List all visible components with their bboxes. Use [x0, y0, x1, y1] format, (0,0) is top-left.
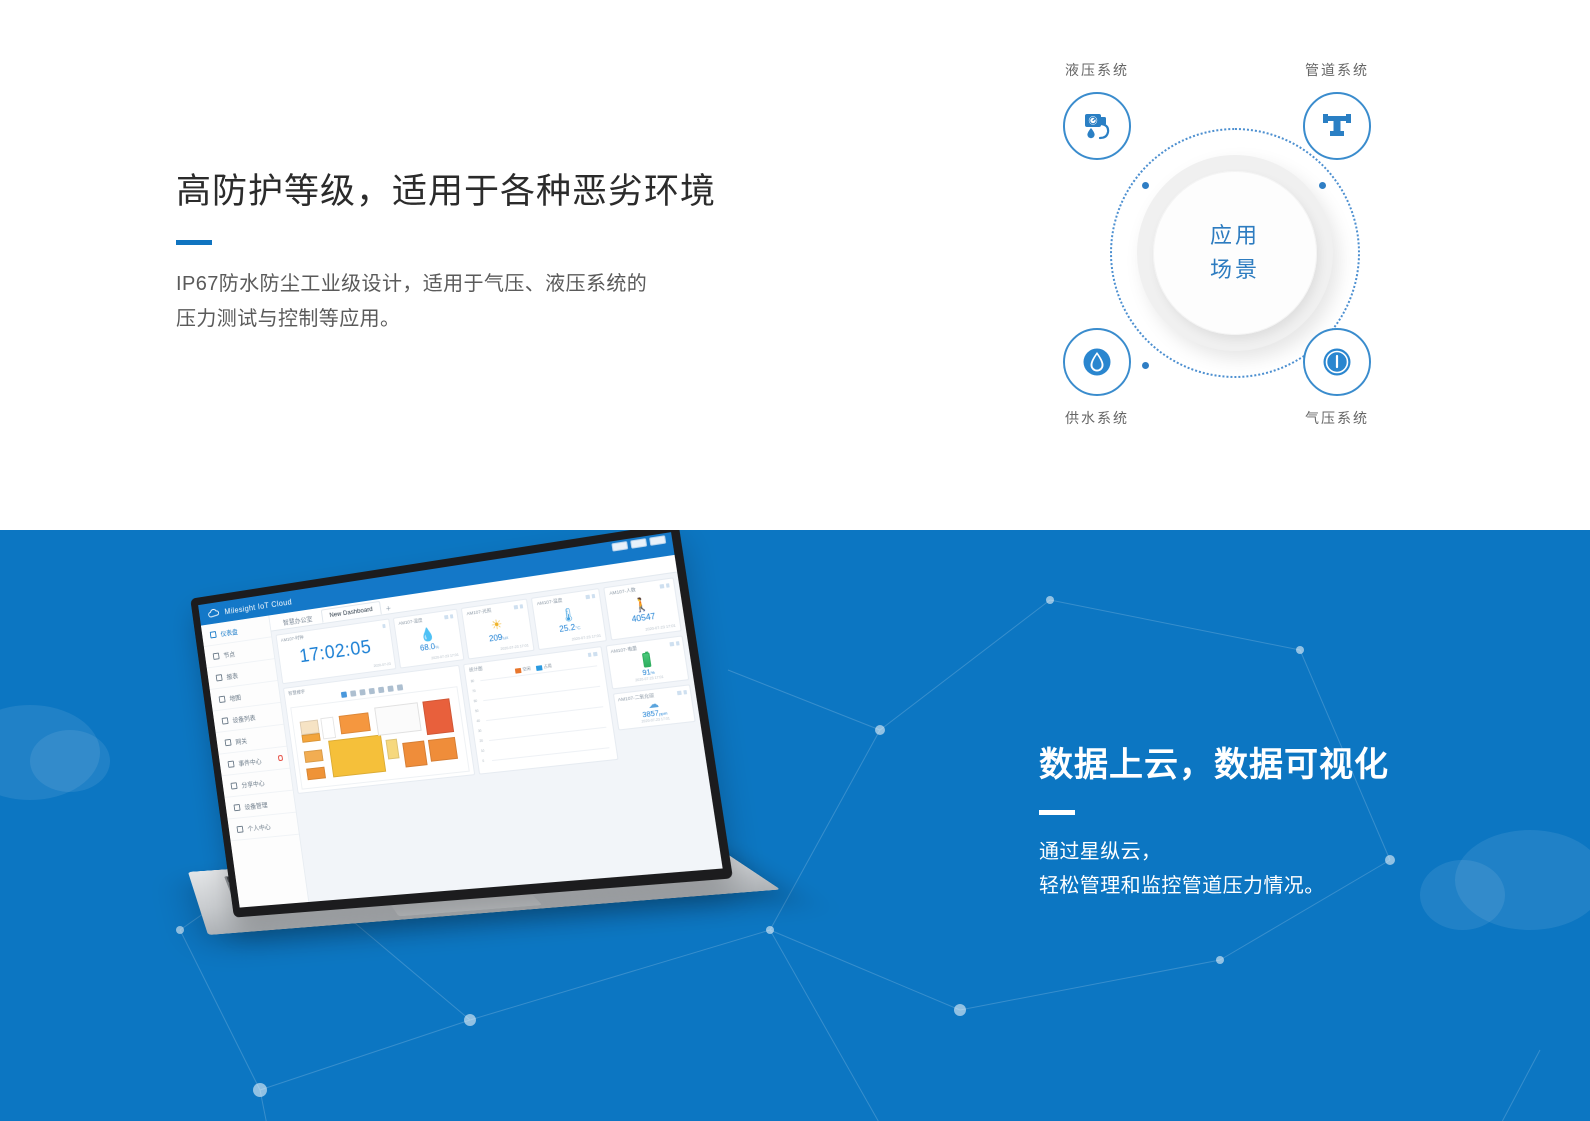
laptop-lid: Milesight IoT Cloud 仪表盘 节点: [190, 530, 733, 918]
card-tools[interactable]: [677, 690, 687, 695]
cloud-copy-block: 数据上云，数据可视化 通过星纵云， 轻松管理和监控管道压力情况。: [1039, 745, 1389, 904]
user-icon: [236, 825, 243, 832]
scenario-node-pneumatic[interactable]: 气压系统: [1272, 328, 1402, 428]
y-tick: 10: [481, 749, 485, 753]
dashboard-main: 智慧办公室 New Dashboard + AM107-时钟: [269, 555, 722, 902]
list-icon: [222, 717, 229, 724]
y-tick: 20: [479, 739, 483, 743]
layers-icon[interactable]: [359, 689, 365, 696]
cloud-body-line1: 通过星纵云，: [1039, 835, 1389, 869]
node-icon: [213, 652, 220, 659]
floorplan-zone: [302, 733, 321, 742]
sidebar-label: 地图: [229, 692, 242, 703]
floorplan-zone: [422, 698, 454, 734]
thermometer-icon: 🌡: [559, 607, 578, 623]
humidity-icon: 💧: [419, 627, 436, 642]
sidebar-label: 事件中心: [238, 755, 262, 767]
center-label-line1: 应用: [1210, 219, 1260, 253]
sidebar-label: 节点: [223, 648, 236, 659]
side-metric-column: AM107-电量 91% 2020-07-23 17:01: [605, 635, 700, 759]
map-icon: [219, 695, 226, 702]
scenario-node-pipeline[interactable]: 管道系统: [1272, 60, 1402, 160]
metric-card-humidity: AM107-湿度 💧 68.0% 2020-07-23 17:01: [393, 609, 465, 669]
chart-icon[interactable]: [387, 685, 393, 692]
metric-value: 25.2°C: [559, 622, 581, 634]
floorplan-zone: [329, 734, 387, 777]
cloud-title: 数据上云，数据可视化: [1039, 745, 1389, 786]
metric-card-battery: AM107-电量 91% 2020-07-23 17:01: [605, 635, 689, 689]
scenario-label-pipeline: 管道系统: [1272, 60, 1402, 80]
y-tick: 50: [475, 709, 479, 713]
floorplan-zone: [428, 737, 458, 762]
bar-chart-panel: 统计图 空闲 占用 80: [463, 646, 618, 775]
protection-copy-block: 高防护等级，适用于各种恶劣环境 IP67防水防尘工业级设计，适用于气压、液压系统…: [176, 170, 776, 338]
people-icon: 🚶: [632, 597, 651, 613]
orbit-dot-top-right: [1319, 182, 1326, 189]
laptop-screen: Milesight IoT Cloud 仪表盘 节点: [198, 532, 723, 907]
sidebar-label: 个人中心: [247, 821, 271, 833]
floorplan-zone: [304, 750, 323, 763]
protection-body-line1: IP67防水防尘工业级设计，适用于气压、液压系统的: [176, 267, 776, 303]
scenario-node-hydraulic[interactable]: 液压系统: [1032, 60, 1162, 160]
cloud-body-line2: 轻松管理和监控管道压力情况。: [1039, 869, 1389, 903]
card-title: 智慧楼宇: [288, 689, 305, 697]
chart-icon: [216, 674, 223, 681]
select-tool-icon[interactable]: [340, 691, 346, 698]
floorplan-panel: 智慧楼宇: [283, 665, 475, 794]
gateway-icon: [225, 738, 232, 745]
legend-item: 占用: [535, 663, 552, 671]
card-tools[interactable]: [670, 641, 680, 646]
metric-card-co2: AM107-二氧化碳 ☁ 3857ppm 2020-07-23 17:01: [613, 684, 696, 730]
sidebar-label: 报表: [226, 670, 239, 681]
landing-page: 高防护等级，适用于各种恶劣环境 IP67防水防尘工业级设计，适用于气压、液压系统…: [0, 0, 1590, 1121]
laptop-mockup: Milesight IoT Cloud 仪表盘 节点: [110, 560, 750, 1080]
floorplan-zone: [374, 702, 422, 735]
bar-chart-plot: 80 70 60 50 40 30 20 10: [471, 665, 611, 761]
pipe-tee-icon: [1303, 92, 1371, 160]
scenario-label-water-supply: 供水系统: [1032, 408, 1162, 428]
sidebar-label: 分享中心: [241, 777, 265, 789]
water-drop-icon: [1063, 328, 1131, 396]
cloud-decor-left-small: [30, 730, 110, 792]
metric-value: 40547: [631, 612, 656, 624]
sidebar-label: 设备管理: [244, 799, 268, 811]
scenario-label-pneumatic: 气压系统: [1272, 408, 1402, 428]
gear-icon[interactable]: [368, 688, 374, 695]
y-tick: 60: [473, 699, 477, 703]
y-tick: 40: [476, 719, 480, 723]
title-underline-rule: [176, 240, 212, 245]
grid-icon[interactable]: [378, 687, 384, 694]
metric-value: 68.0%: [420, 641, 440, 652]
sidebar-label: 仪表盘: [220, 626, 238, 638]
pin-icon[interactable]: [396, 684, 403, 691]
feature-section-protection: 高防护等级，适用于各种恶劣环境 IP67防水防尘工业级设计，适用于气压、液压系统…: [0, 0, 1590, 530]
orbit-dot-top-left: [1142, 182, 1149, 189]
center-label-line2: 场景: [1210, 253, 1260, 287]
hydraulic-gauge-icon: [1063, 92, 1131, 160]
share-icon: [230, 782, 237, 789]
page-title: 高防护等级，适用于各种恶劣环境: [176, 170, 776, 214]
hand-tool-icon[interactable]: [350, 690, 356, 697]
floorplan-zone: [338, 713, 370, 734]
floorplan-zone: [306, 767, 325, 780]
bell-icon: [227, 760, 234, 767]
events-alert-badge: [278, 755, 283, 761]
dashboard-icon: [210, 631, 217, 638]
settings-icon: [233, 804, 240, 811]
add-tab-button[interactable]: +: [385, 603, 391, 613]
protection-body-line2: 压力测试与控制等应用。: [176, 302, 776, 338]
pressure-gauge-icon: [1303, 328, 1371, 396]
cloud-logo-icon: [208, 608, 221, 619]
legend-item: 空闲: [514, 666, 531, 674]
y-tick: 0: [482, 759, 484, 763]
floorplan-zone: [403, 740, 428, 767]
floorplan-zone: [385, 738, 400, 759]
application-scenarios-diagram: 应用 场景 液压系统: [1020, 40, 1440, 460]
cloud-decor-right-small: [1420, 860, 1505, 930]
sidebar-label: 网关: [235, 735, 248, 746]
feature-section-cloud: Milesight IoT Cloud 仪表盘 节点: [0, 530, 1590, 1121]
metric-card-light: AM107-光照 ☀ 209lux 2020-07-23 17:01: [461, 598, 535, 659]
cloud-title-underline: [1039, 810, 1075, 815]
card-title: AM107-电量: [610, 646, 637, 656]
card-tools[interactable]: [382, 624, 386, 628]
battery-icon: [642, 652, 652, 667]
metric-value: 209lux: [489, 632, 509, 644]
y-tick: 80: [470, 679, 474, 683]
scenario-node-water-supply[interactable]: 供水系统: [1032, 328, 1162, 428]
sun-icon: ☀: [490, 617, 503, 632]
floorplan-zone: [320, 717, 336, 740]
scenario-label-hydraulic: 液压系统: [1032, 60, 1162, 80]
diagram-center-label: 应用 场景: [1153, 171, 1317, 335]
floorplan-heatmap[interactable]: [290, 686, 470, 789]
sidebar-label: 设备列表: [232, 712, 256, 724]
iot-cloud-dashboard: Milesight IoT Cloud 仪表盘 节点: [198, 532, 723, 907]
metric-card-people: AM107-人数 🚶 40547 2020-07-23 17:01: [603, 577, 682, 640]
y-tick: 70: [472, 689, 476, 693]
metric-card-temperature: AM107-温度 🌡 25.2°C 2020-07-23 17:01: [531, 588, 607, 650]
bar-series-group: [484, 666, 607, 760]
y-tick: 30: [478, 729, 482, 733]
